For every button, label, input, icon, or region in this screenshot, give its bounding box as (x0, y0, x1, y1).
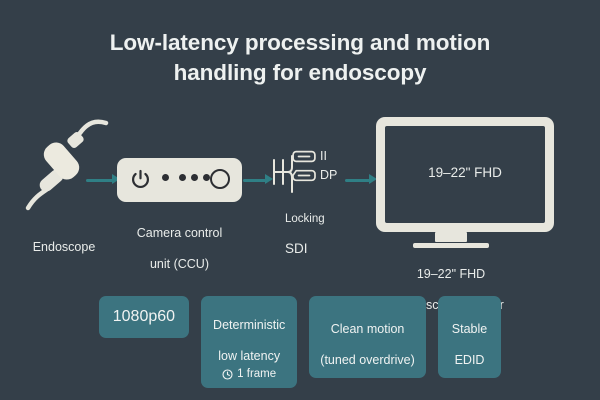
sdi-label: Locking SDI (258, 196, 358, 273)
monitor-screen-label: 19–22" FHD (385, 164, 545, 181)
camera-control-unit-icon (117, 158, 242, 202)
displayport-port-row: DP (292, 169, 337, 182)
arrow-right-icon (345, 173, 377, 187)
monitor-stand-base (413, 243, 489, 248)
badge-latency-line-1: Deterministic (213, 318, 285, 332)
page-title-line-2: handling for endoscopy (174, 60, 427, 85)
badge-latency[interactable]: Deterministic low latency 1 frame (201, 296, 297, 388)
badge-motion-label: Clean motion (tuned overdrive) (320, 306, 415, 368)
monitor-bezel: 19–22" FHD (376, 117, 554, 232)
badge-latency-line-2: low latency (218, 349, 280, 363)
arrow-right-icon (86, 173, 120, 187)
monitor-stand-neck (435, 232, 467, 242)
badge-motion-line-2: (tuned overdrive) (320, 353, 415, 367)
hdmi-port-icon (292, 150, 316, 163)
displayport-port-icon (292, 169, 316, 182)
badge-motion[interactable]: Clean motion (tuned overdrive) (309, 296, 426, 378)
ccu-label-line-1: Camera control (137, 226, 222, 240)
page-title: Low-latency processing and motion handli… (0, 28, 600, 88)
badge-edid[interactable]: Stable EDID (438, 296, 501, 378)
badge-resolution-label: 1080p60 (113, 308, 175, 326)
sdi-label-line-2: SDI (285, 241, 358, 257)
badge-resolution[interactable]: 1080p60 (99, 296, 189, 338)
badge-edid-label: Stable EDID (452, 306, 487, 368)
badge-edid-line-1: Stable (452, 322, 487, 336)
locking-sdi-connector-icon (271, 152, 293, 192)
sdi-label-line-1: Locking (285, 212, 358, 226)
badge-latency-label: Deterministic low latency (213, 302, 285, 364)
badge-motion-line-1: Clean motion (331, 322, 405, 336)
badge-latency-sub: 1 frame (222, 367, 276, 382)
badge-edid-line-2: EDID (455, 353, 485, 367)
displayport-port-label: DP (320, 169, 337, 182)
monitor-screen: 19–22" FHD (385, 126, 545, 223)
power-icon (130, 169, 151, 190)
ccu-label: Camera control unit (CCU) (112, 210, 247, 272)
indicator-dot (191, 174, 198, 181)
clock-icon (222, 369, 233, 380)
indicator-dot (162, 174, 169, 181)
feature-badge-row: 1080p60 Deterministic low latency 1 fram… (0, 296, 600, 388)
hdmi-port-row: II (292, 150, 327, 163)
endoscope-label: Endoscope (8, 240, 120, 256)
dial-ring-icon (210, 169, 230, 189)
infographic-canvas: Low-latency processing and motion handli… (0, 0, 600, 400)
indicator-dot (179, 174, 186, 181)
monitor-icon: 19–22" FHD (376, 117, 554, 232)
indicator-dots (162, 174, 210, 181)
badge-latency-sub-label: 1 frame (237, 367, 276, 382)
arrow-right-icon (243, 173, 273, 187)
page-title-line-1: Low-latency processing and motion (110, 30, 491, 55)
ccu-label-line-2: unit (CCU) (150, 257, 209, 271)
monitor-label-line-1: 19–22" FHD (417, 267, 485, 281)
hdmi-port-label: II (320, 150, 327, 163)
endoscope-icon (22, 112, 110, 212)
indicator-dot (203, 174, 210, 181)
